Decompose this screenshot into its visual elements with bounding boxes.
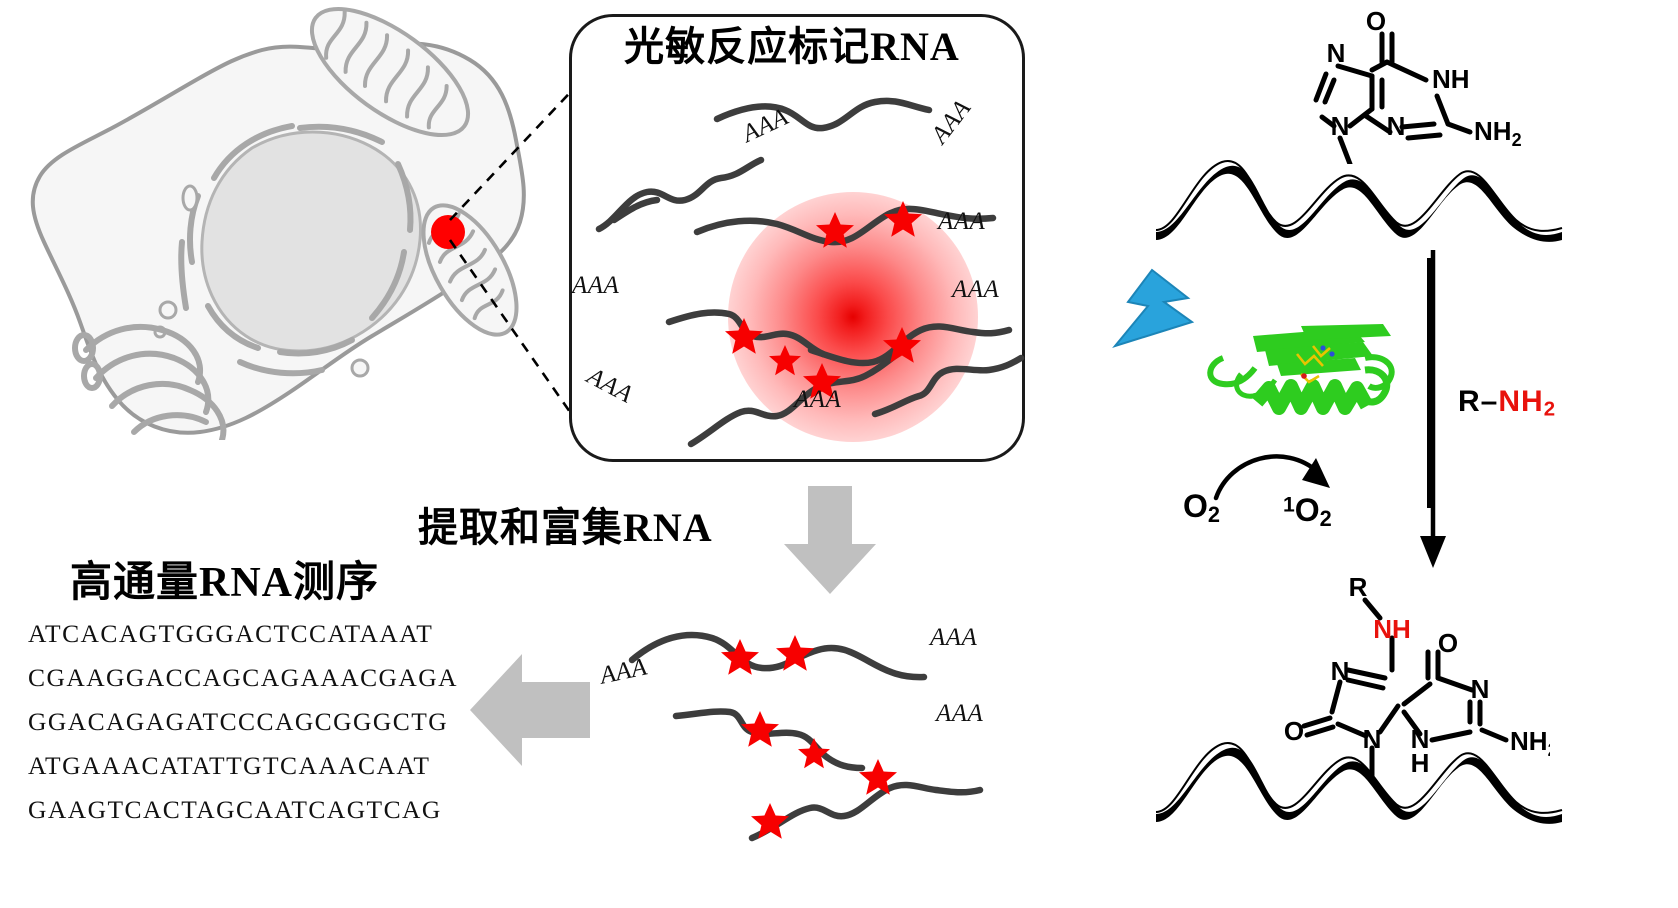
amine-reagent-label: R–NH2 bbox=[1458, 385, 1556, 421]
atom-label-N9: N bbox=[1331, 111, 1350, 141]
ribbon-front-strand bbox=[1156, 748, 1562, 824]
atom-label-N-right: N bbox=[1471, 674, 1490, 704]
poly-a-tail-label: AAA bbox=[936, 700, 983, 728]
sequence-line: CGAAGGACCAGCAGAAACGAGA bbox=[28, 656, 458, 700]
guanosine-structure: O NH N N N NH2 bbox=[1230, 4, 1560, 164]
nh2-label: NH2 bbox=[1498, 385, 1556, 418]
rna-modification-star-icon bbox=[741, 711, 779, 747]
poly-a-tail-label: AAA bbox=[794, 386, 841, 414]
leader-line-bottom bbox=[450, 240, 570, 412]
rna-ribbon-top bbox=[1148, 148, 1568, 248]
poly-a-tail-label: AAA bbox=[930, 624, 977, 652]
sequencing-title: 高通量RNA测序 bbox=[70, 548, 379, 609]
vesicle-icon bbox=[352, 360, 368, 376]
atom-label-NH2: NH2 bbox=[1474, 116, 1522, 150]
rna-modification-star-icon bbox=[798, 738, 830, 768]
r-group-label: R bbox=[1349, 572, 1368, 602]
star-markers-group bbox=[725, 201, 922, 399]
vesicle-icon bbox=[183, 186, 197, 210]
rna-modification-star-icon bbox=[725, 318, 763, 354]
sequence-line: GGACAGAGATCCCAGCGGGCTG bbox=[28, 700, 458, 744]
extract-enrich-title: 提取和富集RNA bbox=[418, 495, 713, 553]
poly-a-tail-label: AAA bbox=[952, 276, 999, 304]
atom-label-N3: N bbox=[1387, 111, 1406, 141]
ribbon-back-strand bbox=[1156, 161, 1562, 231]
rna-modification-star-icon bbox=[769, 345, 801, 375]
rna-strand bbox=[632, 635, 924, 677]
sequence-line: GAAGTCACTAGCAATCAGTCAG bbox=[28, 788, 458, 832]
photosensitizer-protein-icon bbox=[1205, 324, 1425, 434]
singlet-oxygen-label: 1O2 bbox=[1283, 492, 1332, 532]
rna-strand bbox=[752, 785, 980, 838]
oxygen-label: O2 bbox=[1183, 488, 1220, 528]
poly-a-tail-label: AAA bbox=[938, 208, 985, 236]
atom-label-NH-red: NH bbox=[1373, 614, 1411, 644]
reaction-arrow-down bbox=[1418, 250, 1448, 570]
sequence-line: ATCACAGTGGGACTCCATAAAT bbox=[28, 612, 458, 656]
down-arrow-icon bbox=[782, 486, 878, 596]
atom-label-O: O bbox=[1366, 6, 1386, 36]
bond-dash: – bbox=[1481, 385, 1499, 418]
atom-label-N7: N bbox=[1327, 38, 1346, 68]
poly-a-tail-label: AAA bbox=[572, 272, 619, 300]
sequence-list: ATCACAGTGGGACTCCATAAAT CGAAGGACCAGCAGAAA… bbox=[28, 612, 458, 832]
r-group-label: R bbox=[1458, 385, 1481, 418]
ribbon-front-strand bbox=[1156, 166, 1562, 242]
sequence-line: ATGAAACATATTGTCAAACAAT bbox=[28, 744, 458, 788]
rna-strand bbox=[875, 358, 1021, 414]
atom-label-O-right-top: O bbox=[1438, 628, 1458, 658]
vesicle-icon bbox=[160, 302, 176, 318]
ribbon-back-strand bbox=[1156, 743, 1562, 813]
atom-label-N-imine: N bbox=[1331, 656, 1350, 686]
left-arrow-icon bbox=[470, 650, 592, 770]
atom-label-NH: NH bbox=[1432, 64, 1470, 94]
rna-ribbon-bottom bbox=[1148, 730, 1568, 830]
leader-line-top bbox=[450, 82, 580, 220]
